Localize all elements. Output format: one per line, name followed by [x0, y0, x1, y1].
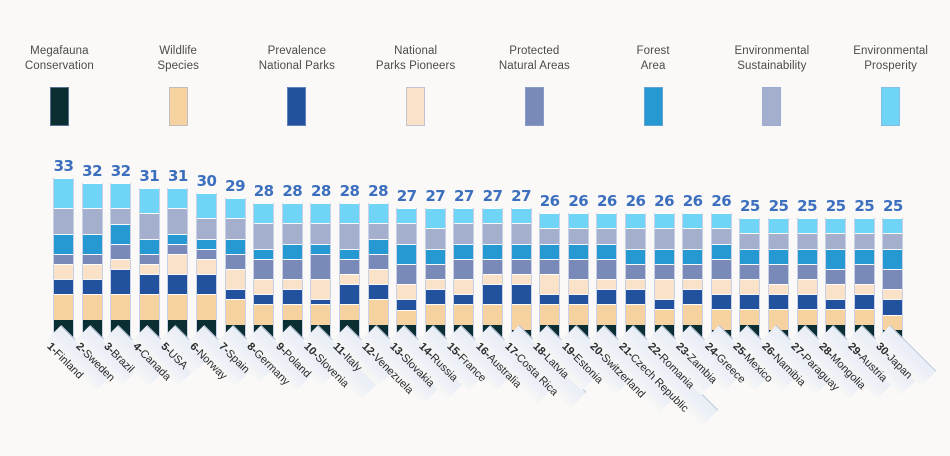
bar-value-label: 27: [425, 187, 445, 205]
bar-segment: [883, 233, 902, 248]
bar-segment: [798, 249, 817, 264]
bar-segment: [683, 213, 702, 228]
bar-stack: [253, 203, 274, 345]
bar-segment: [683, 279, 702, 289]
bar-segment: [226, 299, 245, 324]
legend-item[interactable]: Wildlife Species: [119, 44, 238, 126]
bar-segment: [426, 289, 445, 304]
bar-segment: [883, 249, 902, 269]
bar-segment: [111, 183, 130, 208]
bar-segment: [769, 284, 788, 294]
bar-segment: [426, 249, 445, 264]
bar-stack: [310, 203, 331, 345]
bar-stack: [539, 213, 560, 345]
bar-column[interactable]: 26: [539, 213, 560, 345]
bar-segment: [712, 294, 731, 309]
bar-segment: [54, 279, 73, 294]
bar-segment: [454, 279, 473, 294]
bar-segment: [483, 274, 502, 284]
bar-segment: [54, 208, 73, 233]
bar-segment: [483, 259, 502, 274]
bar-segment: [798, 233, 817, 248]
bar-column[interactable]: 27: [396, 208, 417, 345]
chart-legend: Megafauna ConservationWildlife SpeciesPr…: [0, 44, 950, 149]
bar-segment: [855, 264, 874, 284]
bar-segment: [340, 259, 359, 274]
bar-segment: [340, 249, 359, 259]
bar-segment: [397, 244, 416, 264]
bar-segment: [168, 234, 187, 244]
bar-column[interactable]: 25: [825, 218, 846, 345]
bar-segment: [855, 249, 874, 264]
bar-segment: [626, 304, 645, 324]
bar-segment: [740, 233, 759, 248]
bar-segment: [197, 274, 216, 294]
bar-column[interactable]: 26: [568, 213, 589, 345]
bar-segment: [54, 264, 73, 279]
legend-item[interactable]: Environmental Sustainability: [713, 44, 832, 126]
bar-value-label: 31: [168, 167, 188, 185]
bar-segment: [655, 309, 674, 324]
bar-value-label: 28: [254, 182, 274, 200]
x-axis-category-labels: 1-Finland2-Sweden3-Brazil4-Canada5-USA6-…: [0, 337, 950, 456]
bar-stack: [53, 178, 74, 345]
bar-segment: [226, 254, 245, 269]
bar-value-label: 30: [197, 172, 217, 190]
bar-segment: [855, 309, 874, 324]
bar-segment: [655, 228, 674, 248]
bar-value-label: 31: [139, 167, 159, 185]
bar-segment: [569, 294, 588, 304]
bar-segment: [798, 218, 817, 233]
bar-segment: [740, 218, 759, 233]
bar-segment: [655, 279, 674, 299]
bar-segment: [769, 233, 788, 248]
bar-segment: [254, 294, 273, 304]
bar-segment: [597, 279, 616, 289]
bar-segment: [340, 284, 359, 304]
bar-column[interactable]: 26: [596, 213, 617, 345]
bar-segment: [769, 294, 788, 309]
bar-segment: [855, 233, 874, 248]
bar-segment: [826, 299, 845, 309]
bar-value-label: 27: [454, 187, 474, 205]
bar-segment: [340, 274, 359, 284]
bar-segment: [311, 279, 330, 299]
bar-segment: [597, 259, 616, 279]
bar-segment: [283, 304, 302, 319]
bar-segment: [197, 218, 216, 238]
bar-segment: [454, 208, 473, 223]
bar-segment: [883, 218, 902, 233]
bar-stack: [625, 213, 646, 345]
bar-column[interactable]: 30: [196, 193, 217, 345]
bar-value-label: 27: [397, 187, 417, 205]
bar-column[interactable]: 28: [339, 203, 360, 345]
bar-segment: [426, 279, 445, 289]
bar-segment: [712, 213, 731, 228]
bar-segment: [111, 224, 130, 244]
bar-column[interactable]: 27: [425, 208, 446, 345]
bar-value-label: 26: [711, 192, 731, 210]
bar-segment: [283, 279, 302, 289]
bar-segment: [426, 208, 445, 228]
bar-column[interactable]: 26: [654, 213, 675, 345]
bar-segment: [140, 188, 159, 213]
bar-segment: [226, 239, 245, 254]
bar-stack: [482, 208, 503, 345]
bar-segment: [340, 223, 359, 248]
bar-segment: [454, 244, 473, 259]
bar-segment: [340, 304, 359, 319]
bar-segment: [454, 304, 473, 324]
bar-segment: [168, 208, 187, 233]
bar-column[interactable]: 26: [711, 213, 732, 345]
bar-segment: [512, 223, 531, 243]
bar-column[interactable]: 29: [225, 198, 246, 345]
bar-segment: [540, 228, 559, 243]
legend-item-label: Megafauna Conservation: [25, 44, 94, 74]
bar-segment: [426, 304, 445, 324]
bar-segment: [83, 294, 102, 319]
bar-stack: [167, 188, 188, 345]
bar-value-label: 28: [282, 182, 302, 200]
bar-segment: [54, 234, 73, 254]
bar-stack: [568, 213, 589, 345]
bar-segment: [512, 259, 531, 274]
bar-stack: [282, 203, 303, 345]
bar-segment: [855, 294, 874, 309]
legend-color-swatch: [644, 87, 663, 126]
bar-segment: [626, 228, 645, 248]
bar-segment: [826, 309, 845, 324]
bar-stack: [368, 203, 389, 345]
bar-segment: [512, 208, 531, 223]
bar-column[interactable]: 25: [739, 218, 760, 345]
bar-segment: [454, 259, 473, 279]
bar-segment: [111, 269, 130, 294]
bar-segment: [340, 203, 359, 223]
bar-segment: [254, 203, 273, 223]
bar-segment: [397, 310, 416, 325]
bar-value-label: 26: [683, 192, 703, 210]
legend-item[interactable]: Forest Area: [594, 44, 713, 126]
bar-segment: [426, 264, 445, 279]
bar-segment: [655, 213, 674, 228]
bar-stack: [768, 218, 789, 345]
bar-segment: [140, 294, 159, 319]
bar-segment: [426, 228, 445, 248]
bar-segment: [512, 274, 531, 284]
bar-segment: [111, 208, 130, 223]
bar-value-label: 26: [626, 192, 646, 210]
bar-segment: [626, 289, 645, 304]
bar-segment: [140, 264, 159, 274]
bar-column[interactable]: 27: [482, 208, 503, 345]
bar-value-label: 27: [483, 187, 503, 205]
bar-segment: [483, 284, 502, 304]
bar-segment: [397, 264, 416, 284]
legend-item[interactable]: Megafauna Conservation: [0, 44, 119, 126]
bar-column[interactable]: 28: [282, 203, 303, 345]
bar-value-label: 25: [854, 197, 874, 215]
bar-segment: [197, 249, 216, 259]
bar-segment: [197, 239, 216, 249]
legend-item-label: Environmental Sustainability: [734, 44, 809, 74]
bar-segment: [626, 213, 645, 228]
bar-column[interactable]: 28: [310, 203, 331, 345]
bar-stack: [453, 208, 474, 345]
bar-segment: [540, 304, 559, 324]
bar-column[interactable]: 32: [110, 183, 131, 345]
bar-segment: [54, 178, 73, 208]
bar-segment: [369, 203, 388, 223]
bar-value-label: 32: [82, 162, 102, 180]
bar-column[interactable]: 31: [139, 188, 160, 345]
bar-segment: [597, 289, 616, 304]
bar-segment: [197, 259, 216, 274]
bar-segment: [483, 304, 502, 324]
bar-segment: [683, 249, 702, 264]
legend-color-swatch: [525, 87, 544, 126]
bar-column[interactable]: 25: [882, 218, 903, 345]
bar-segment: [397, 208, 416, 223]
bar-segment: [111, 244, 130, 259]
bar-column[interactable]: 27: [453, 208, 474, 345]
bar-stack: [596, 213, 617, 345]
bar-segment: [597, 304, 616, 324]
bar-segment: [798, 294, 817, 309]
bar-stack: [711, 213, 732, 345]
bar-segment: [369, 223, 388, 238]
bar-value-label: 26: [597, 192, 617, 210]
bar-segment: [283, 203, 302, 223]
bar-segment: [369, 299, 388, 324]
bar-segment: [483, 223, 502, 243]
bar-segment: [168, 254, 187, 274]
legend-item-label: Protected Natural Areas: [499, 44, 570, 74]
bar-value-label: 27: [511, 187, 531, 205]
bar-segment: [311, 304, 330, 324]
bar-segment: [626, 264, 645, 279]
bar-segment: [769, 218, 788, 233]
bar-value-label: 26: [568, 192, 588, 210]
bar-segment: [826, 284, 845, 299]
bar-column[interactable]: 28: [253, 203, 274, 345]
bar-value-label: 26: [654, 192, 674, 210]
bar-stack: [654, 213, 675, 345]
bar-segment: [855, 284, 874, 294]
bar-segment: [540, 274, 559, 294]
bar-segment: [540, 244, 559, 259]
bar-segment: [712, 279, 731, 294]
bar-stack: [110, 183, 131, 345]
legend-item[interactable]: National Parks Pioneers: [356, 44, 475, 126]
legend-item[interactable]: Protected Natural Areas: [475, 44, 594, 126]
bar-segment: [397, 223, 416, 243]
bar-segment: [254, 259, 273, 279]
bar-segment: [311, 203, 330, 223]
bar-segment: [54, 294, 73, 319]
legend-item[interactable]: Environmental Prosperity: [831, 44, 950, 126]
bar-segment: [798, 309, 817, 324]
legend-color-swatch: [881, 87, 900, 126]
bar-value-label: 25: [826, 197, 846, 215]
bar-segment: [883, 269, 902, 289]
bar-segment: [226, 269, 245, 289]
bar-segment: [769, 264, 788, 284]
bar-segment: [512, 244, 531, 259]
bar-segment: [712, 244, 731, 259]
bar-segment: [283, 223, 302, 243]
bar-stack: [196, 193, 217, 345]
bar-stack: [225, 198, 246, 345]
bar-segment: [826, 269, 845, 284]
bar-value-label: 26: [540, 192, 560, 210]
legend-item[interactable]: Prevalence National Parks: [238, 44, 357, 126]
bar-segment: [740, 294, 759, 309]
bar-segment: [569, 279, 588, 294]
bar-column[interactable]: 26: [625, 213, 646, 345]
bar-segment: [140, 254, 159, 264]
bar-segment: [798, 264, 817, 279]
bar-segment: [655, 299, 674, 309]
bar-segment: [111, 294, 130, 319]
bar-stack: [139, 188, 160, 345]
bar-segment: [83, 208, 102, 233]
bar-segment: [83, 264, 102, 279]
bar-segment: [283, 289, 302, 304]
legend-item-label: National Parks Pioneers: [376, 44, 455, 74]
legend-item-label: Wildlife Species: [157, 44, 199, 74]
bar-stack: [882, 218, 903, 345]
bar-segment: [197, 193, 216, 218]
bar-value-label: 32: [111, 162, 131, 180]
bar-segment: [311, 223, 330, 243]
legend-color-swatch: [287, 87, 306, 126]
bar-segment: [597, 213, 616, 228]
bar-segment: [540, 294, 559, 304]
bar-value-label: 29: [225, 177, 245, 195]
bar-segment: [483, 208, 502, 223]
bar-column[interactable]: 32: [82, 183, 103, 345]
legend-item-label: Environmental Prosperity: [853, 44, 928, 74]
bar-segment: [168, 294, 187, 319]
bar-stack: [825, 218, 846, 345]
bar-segment: [798, 279, 817, 294]
bar-stack: [425, 208, 446, 345]
bar-segment: [512, 284, 531, 304]
bar-segment: [569, 304, 588, 324]
bar-segment: [83, 234, 102, 254]
bar-segment: [168, 244, 187, 254]
bar-segment: [883, 289, 902, 299]
bar-segment: [569, 213, 588, 228]
bar-stack: [511, 208, 532, 345]
bar-segment: [454, 223, 473, 243]
bar-segment: [712, 228, 731, 243]
bar-segment: [655, 264, 674, 279]
bar-stack: [739, 218, 760, 345]
bar-stack: [396, 208, 417, 345]
bar-segment: [740, 249, 759, 264]
legend-color-swatch: [169, 87, 188, 126]
bar-segment: [254, 279, 273, 294]
bar-segment: [626, 249, 645, 264]
bar-column[interactable]: 28: [368, 203, 389, 345]
bar-segment: [569, 228, 588, 243]
bar-segment: [855, 218, 874, 233]
bar-segment: [226, 198, 245, 218]
bar-segment: [683, 304, 702, 324]
bar-segment: [655, 249, 674, 264]
bar-segment: [140, 213, 159, 238]
bar-value-label: 28: [311, 182, 331, 200]
bar-value-label: 25: [740, 197, 760, 215]
bar-segment: [826, 218, 845, 233]
bar-stack: [82, 183, 103, 345]
bar-segment: [883, 299, 902, 314]
bar-segment: [254, 304, 273, 324]
bar-segment: [626, 279, 645, 289]
bar-segment: [226, 289, 245, 299]
bar-segment: [369, 254, 388, 269]
bar-column[interactable]: 27: [511, 208, 532, 345]
bar-stack: [682, 213, 703, 345]
legend-color-swatch: [762, 87, 781, 126]
legend-color-swatch: [50, 87, 69, 126]
bar-segment: [740, 309, 759, 324]
bar-stack: [339, 203, 360, 345]
bar-segment: [740, 279, 759, 294]
bar-segment: [83, 183, 102, 208]
bar-value-label: 28: [340, 182, 360, 200]
bar-segment: [569, 244, 588, 259]
bar-segment: [311, 254, 330, 279]
bar-segment: [769, 249, 788, 264]
bar-column[interactable]: 31: [167, 188, 188, 345]
bar-value-label: 25: [883, 197, 903, 215]
bar-segment: [483, 244, 502, 259]
bar-segment: [826, 233, 845, 248]
bar-segment: [254, 249, 273, 259]
bar-segment: [226, 218, 245, 238]
bar-segment: [369, 284, 388, 299]
bar-segment: [197, 294, 216, 319]
bar-segment: [111, 259, 130, 269]
bar-segment: [683, 228, 702, 248]
bar-segment: [397, 284, 416, 299]
legend-item-label: Forest Area: [637, 44, 670, 74]
bar-segment: [168, 188, 187, 208]
bar-value-label: 28: [368, 182, 388, 200]
bar-column[interactable]: 26: [682, 213, 703, 345]
bar-segment: [397, 299, 416, 309]
bar-column[interactable]: 25: [768, 218, 789, 345]
bar-column[interactable]: 33: [53, 178, 74, 345]
bar-segment: [540, 259, 559, 274]
legend-item-label: Prevalence National Parks: [259, 44, 335, 74]
bar-segment: [168, 274, 187, 294]
bar-segment: [683, 264, 702, 279]
bar-segment: [740, 264, 759, 279]
bar-segment: [369, 239, 388, 254]
bar-segment: [311, 244, 330, 254]
bar-value-label: 33: [54, 157, 74, 175]
bar-segment: [283, 259, 302, 279]
bar-segment: [597, 228, 616, 243]
bar-segment: [712, 259, 731, 279]
